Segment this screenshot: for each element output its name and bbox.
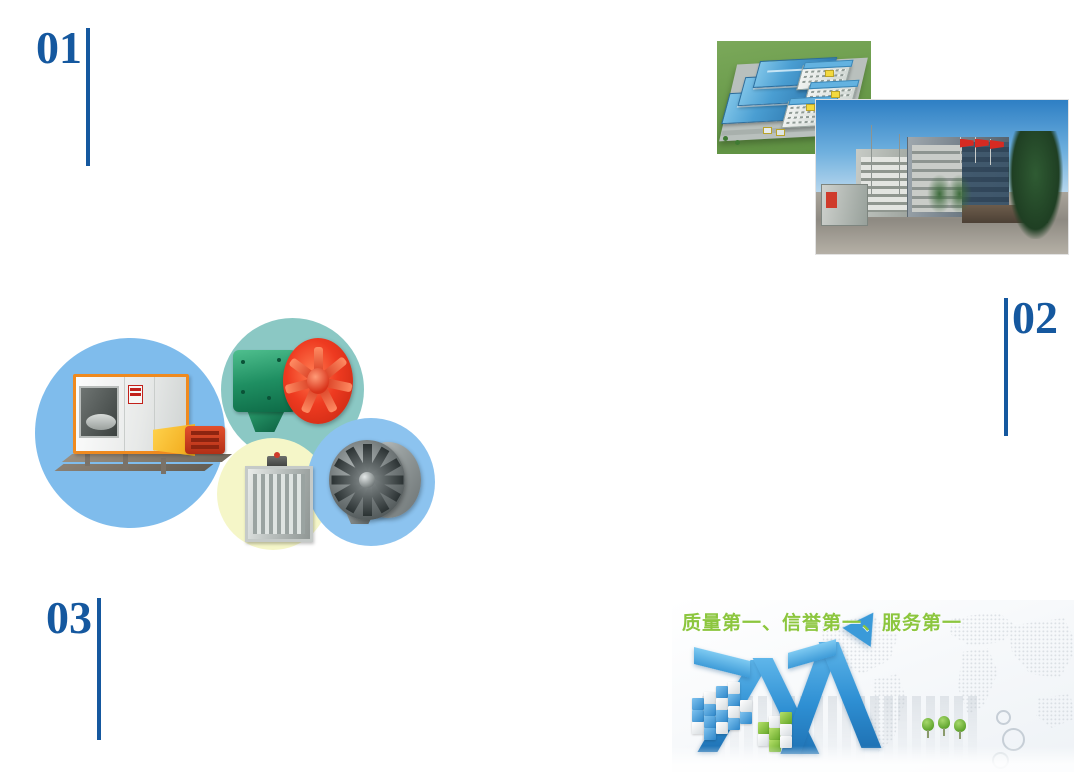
product-metal-axial-fan bbox=[327, 436, 423, 528]
electric-motor bbox=[185, 426, 225, 454]
aerial-marker bbox=[825, 70, 834, 77]
tree-icon bbox=[922, 718, 934, 738]
section-marker-03: 03 bbox=[46, 596, 101, 740]
vertical-rule-icon bbox=[86, 28, 90, 166]
bubble-icon bbox=[996, 710, 1011, 725]
slogan-banner: 质量第一、信誉第一、服务第一 bbox=[672, 600, 1074, 772]
aerial-vehicle bbox=[763, 127, 772, 134]
section-marker-02: 02 bbox=[1004, 296, 1058, 436]
product-axial-flow-fan bbox=[231, 332, 355, 448]
aerial-vehicle bbox=[776, 129, 785, 136]
aerial-marker bbox=[806, 104, 815, 111]
section-number-03: 03 bbox=[46, 596, 92, 640]
entrance-gate-house bbox=[821, 184, 868, 226]
reflection-overlay bbox=[672, 746, 1074, 772]
light-pole bbox=[871, 125, 872, 196]
page-canvas: 01 02 03 bbox=[0, 0, 1074, 772]
aerial-marker bbox=[831, 91, 840, 98]
product-collage bbox=[35, 310, 425, 555]
light-pole bbox=[899, 134, 900, 196]
slogan-text: 质量第一、信誉第一、服务第一 bbox=[682, 608, 962, 635]
product-fire-damper bbox=[245, 456, 309, 540]
section-number-02: 02 bbox=[1012, 296, 1058, 340]
section-number-01: 01 bbox=[36, 26, 82, 70]
cube-icon bbox=[692, 682, 754, 744]
vertical-rule-icon bbox=[97, 598, 101, 740]
tree-icon bbox=[954, 719, 966, 739]
tree-icon bbox=[1008, 131, 1063, 239]
vertical-rule-icon bbox=[1004, 298, 1008, 436]
product-box-centrifugal-fan bbox=[57, 368, 217, 490]
tree-icon bbox=[938, 716, 950, 736]
section-marker-01: 01 bbox=[36, 26, 90, 166]
tree-icon bbox=[947, 174, 972, 214]
office-building-photo bbox=[815, 99, 1069, 255]
